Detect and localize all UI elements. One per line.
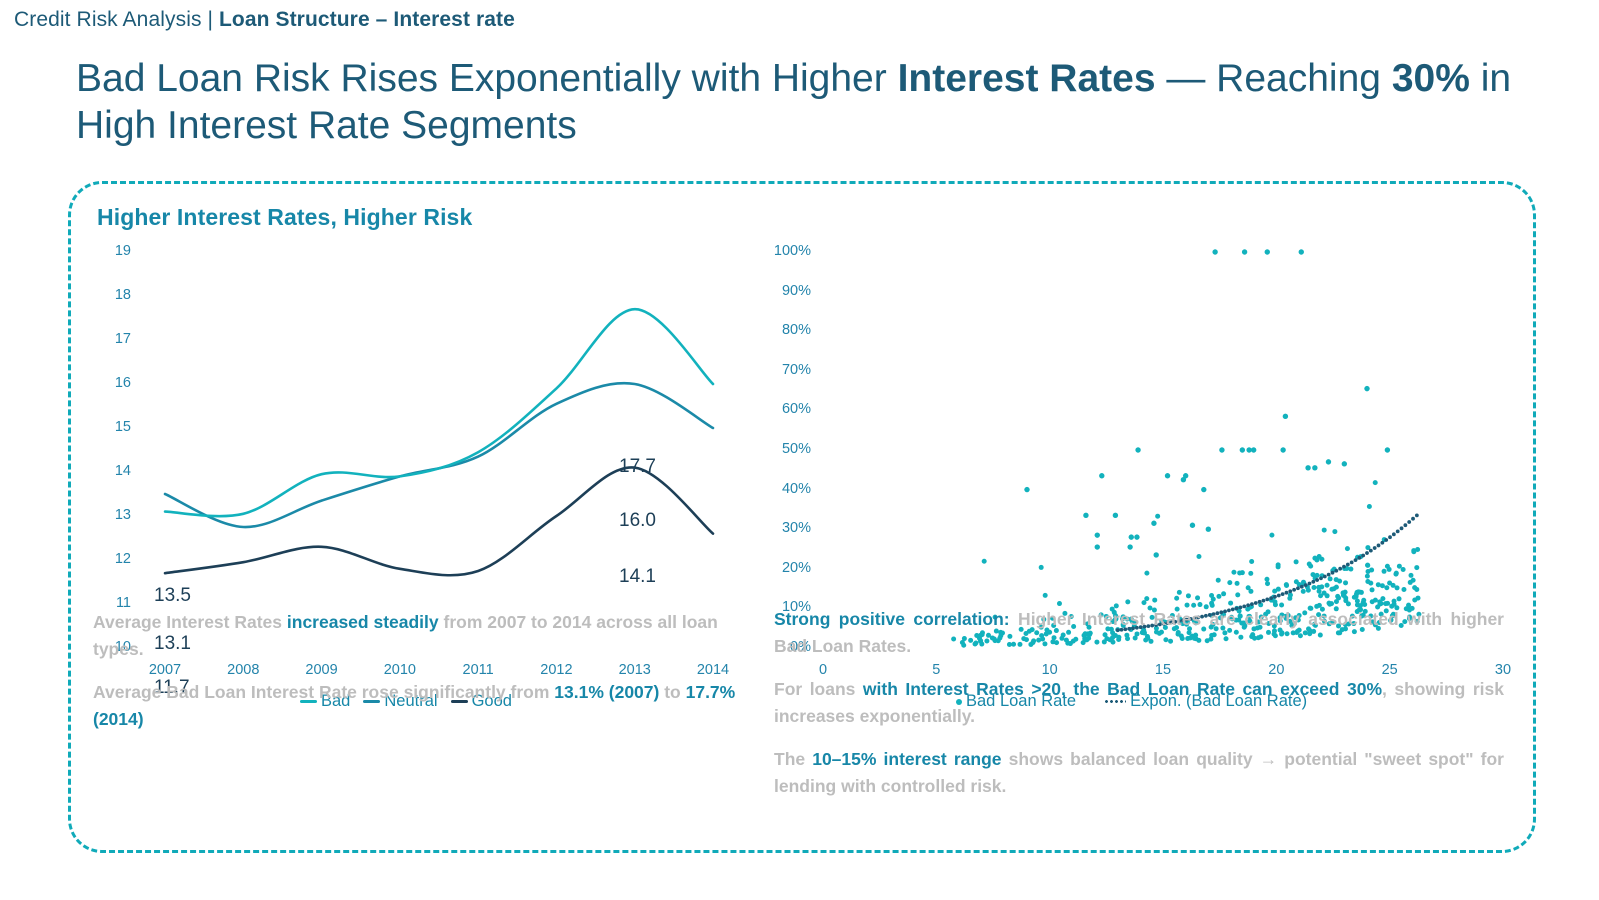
insight-card: Higher Interest Rates, Higher Risk 10111… [68, 181, 1536, 853]
insight-highlight: with Interest Rates >20, the Bad Loan Ra… [863, 679, 1382, 699]
scatter-points [951, 249, 1421, 647]
data-label: 14.1 [619, 566, 656, 588]
insight-paragraph: For loans with Interest Rates >20, the B… [774, 676, 1504, 730]
insight-paragraph: Average Interest Rates increased steadil… [93, 609, 748, 663]
headline-part-1: Bad Loan Risk Rises Exponentially with H… [76, 57, 898, 100]
breadcrumb-page: Loan Structure – Interest rate [219, 8, 515, 31]
insight-highlight: 10–15% interest range [812, 749, 1001, 769]
insight-highlight: 13.1% (2007) [554, 682, 659, 702]
insight-paragraph: Average Bad Loan Interest Rate rose sign… [93, 679, 748, 733]
insight-text: to [659, 682, 685, 702]
breadcrumb: Credit Risk Analysis | Loan Structure – … [14, 8, 515, 32]
insight-text: Average Interest Rates [93, 612, 287, 632]
insight-paragraph: The 10–15% interest range shows balanced… [774, 746, 1504, 800]
headline-emphasis-1: Interest Rates [898, 57, 1156, 100]
headline-emphasis-2: 30% [1392, 57, 1470, 100]
breadcrumb-section: Credit Risk Analysis | [14, 8, 219, 31]
insight-text: Average Bad Loan Interest Rate rose sign… [93, 682, 554, 702]
data-label: 16.0 [619, 510, 656, 532]
insight-text: For loans [774, 679, 863, 699]
insight-text: The [774, 749, 812, 769]
headline-part-2: — Reaching [1156, 57, 1392, 100]
insight-paragraph: Strong positive correlation: Higher Inte… [774, 606, 1504, 660]
insights-left: Average Interest Rates increased steadil… [93, 609, 748, 749]
data-label: 13.5 [154, 585, 191, 607]
insights-right: Strong positive correlation: Higher Inte… [774, 606, 1504, 816]
data-label: 17.7 [619, 456, 656, 478]
card-title: Higher Interest Rates, Higher Risk [97, 204, 472, 231]
series-line-bad [165, 309, 713, 516]
slide-root: Credit Risk Analysis | Loan Structure – … [0, 0, 1599, 900]
insight-highlight: increased steadily [287, 612, 439, 632]
insight-highlight: Strong positive correlation: [774, 609, 1010, 629]
page-title: Bad Loan Risk Rises Exponentially with H… [76, 55, 1516, 149]
